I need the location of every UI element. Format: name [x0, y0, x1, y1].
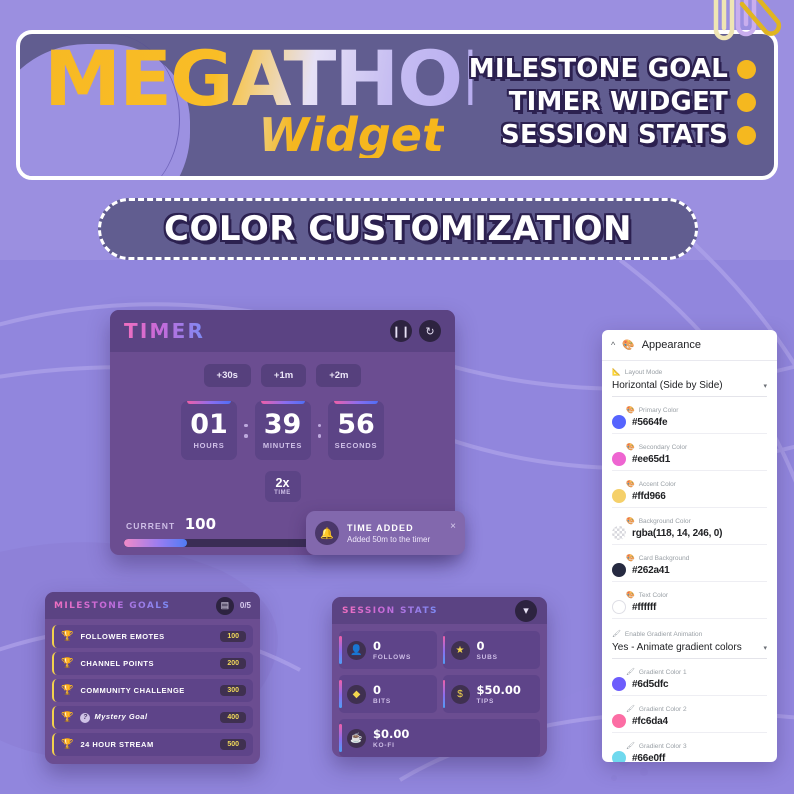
add-1m-button[interactable]: +1m: [261, 364, 306, 387]
stat-label: FOLLOWS: [373, 654, 411, 661]
chevron-up-icon[interactable]: ^: [611, 340, 615, 350]
palette-icon: 🎨: [626, 443, 635, 451]
secondary-color-row[interactable]: #ee65d1: [612, 452, 767, 471]
stat-value: 0: [373, 640, 411, 652]
milestone-name: FOLLOWER EMOTES: [80, 632, 213, 641]
gradient-color-1-row[interactable]: #6d5dfc: [612, 677, 767, 696]
timer-progress-fill: [124, 539, 187, 547]
brush-icon: 🖌: [626, 742, 635, 750]
color-swatch[interactable]: [612, 600, 626, 614]
milestone-name-text: Mystery Goal: [94, 712, 147, 721]
gradient-color-3-field: 🖌 Gradient Color 3 #66e0ff: [602, 737, 777, 762]
color-customization-label: COLOR CUSTOMIZATION: [164, 209, 632, 249]
milestone-item[interactable]: 🏆 FOLLOWER EMOTES 100: [52, 625, 253, 648]
secondary-color-field: 🎨 Secondary Color #ee65d1: [602, 438, 777, 475]
layout-mode-label-text: Layout Mode: [625, 369, 663, 376]
gem-icon: ◆: [347, 685, 366, 704]
primary-color-value: #5664fe: [632, 417, 667, 428]
bullet-dot-icon: [737, 60, 756, 79]
gradient-animation-field: 🖌 Enable Gradient Animation Yes - Animat…: [602, 623, 777, 663]
stats-grid: 👤 0 FOLLOWS ★ 0 SUBS ◆ 0 BITS: [332, 624, 547, 757]
stat-value: 0: [477, 640, 498, 652]
secondary-color-value: #ee65d1: [632, 454, 670, 465]
timer-quick-add-row: +30s +1m +2m: [124, 364, 441, 387]
brush-icon: 🖌: [612, 630, 621, 638]
timer-multiplier-value: 2x: [276, 477, 290, 490]
paperclip-icons: [694, 0, 784, 58]
stat-label: SUBS: [477, 654, 498, 661]
stat-card-follows: 👤 0 FOLLOWS: [339, 631, 437, 669]
milestone-count: 0/5: [240, 601, 251, 610]
timer-colon-separator: [244, 401, 248, 460]
timer-seconds-box: 56 SECONDS: [328, 401, 384, 460]
logo-main-text: MEGATHON: [44, 40, 472, 118]
milestone-item-mystery[interactable]: 🏆 ?Mystery Goal 400: [52, 706, 253, 729]
feature-label: TIMER WIDGET: [509, 87, 728, 117]
card-background-field: 🎨 Card Background #262a41: [602, 549, 777, 586]
toast-message: Added 50m to the timer: [347, 535, 430, 544]
color-swatch[interactable]: [612, 563, 626, 577]
feature-item: SESSION STATS: [426, 120, 756, 150]
milestone-name: ?Mystery Goal: [80, 712, 213, 722]
timer-colon-separator: [318, 401, 322, 460]
time-added-toast: 🔔 TIME ADDED Added 50m to the timer ×: [306, 511, 465, 555]
stat-value: $0.00: [373, 728, 409, 740]
gradient-color-2-row[interactable]: #fc6da4: [612, 714, 767, 733]
bullet-dot-icon: [737, 126, 756, 145]
layout-mode-select[interactable]: Horizontal (Side by Side) ▾: [612, 378, 767, 397]
follower-icon: 👤: [347, 641, 366, 660]
secondary-color-label: 🎨 Secondary Color: [612, 443, 767, 451]
stat-label: TIPS: [477, 698, 521, 705]
milestone-value: 400: [220, 712, 246, 723]
layout-mode-label: 📐 Layout Mode: [612, 368, 767, 376]
feature-item: MILESTONE GOAL: [426, 54, 756, 84]
current-label: CURRENT: [126, 521, 175, 531]
card-background-label: 🎨 Card Background: [612, 554, 767, 562]
current-value: 100: [185, 515, 216, 533]
stat-value: $50.00: [477, 684, 521, 696]
palette-icon: 🎨: [626, 517, 635, 525]
chevron-down-icon: ▾: [763, 382, 767, 390]
color-customization-banner: COLOR CUSTOMIZATION: [98, 198, 698, 260]
timer-hours-label: HOURS: [193, 441, 224, 450]
milestone-item[interactable]: 🏆 CHANNEL POINTS 200: [52, 652, 253, 675]
feature-list: MILESTONE GOAL TIMER WIDGET SESSION STAT…: [426, 54, 756, 153]
feature-item: TIMER WIDGET: [426, 87, 756, 117]
reset-icon[interactable]: ↻: [419, 320, 441, 342]
session-stats-widget: SESSION STATS ▾ 👤 0 FOLLOWS ★ 0 SUBS ◆: [332, 597, 547, 757]
timer-minutes-label: MINUTES: [263, 441, 302, 450]
milestone-list: 🏆 FOLLOWER EMOTES 100 🏆 CHANNEL POINTS 2…: [45, 619, 260, 762]
timer-multiplier-box[interactable]: 2x TIME: [265, 471, 301, 502]
feature-label: SESSION STATS: [501, 120, 728, 150]
bullet-dot-icon: [737, 93, 756, 112]
timer-widget-title: TIMER: [124, 319, 205, 343]
close-icon[interactable]: ×: [450, 521, 456, 532]
gradient-color-3-value: #66e0ff: [632, 753, 665, 763]
milestone-goals-widget: MILESTONE GOALS ▤ 0/5 🏆 FOLLOWER EMOTES …: [45, 592, 260, 764]
layout-mode-value: Horizontal (Side by Side): [612, 380, 723, 391]
add-30s-button[interactable]: +30s: [204, 364, 251, 387]
dollar-icon: $: [451, 685, 470, 704]
stat-label: KO-FI: [373, 742, 409, 749]
secondary-color-label-text: Secondary Color: [639, 444, 687, 451]
coffee-icon: ☕: [347, 729, 366, 748]
timer-hours-box: 01 HOURS: [181, 401, 237, 460]
timer-minutes-value: 39: [264, 411, 302, 439]
ruler-icon: 📐: [612, 368, 621, 376]
milestone-name: COMMUNITY CHALLENGE: [80, 686, 213, 695]
background-color-value: rgba(118, 14, 246, 0): [632, 528, 722, 539]
timer-seconds-label: SECONDS: [335, 441, 378, 450]
color-swatch[interactable]: [612, 452, 626, 466]
primary-color-label: 🎨 Primary Color: [612, 406, 767, 414]
header-banner: MEGATHON Widget MILESTONE GOAL TIMER WID…: [16, 30, 778, 180]
text-color-label-text: Text Color: [639, 592, 668, 599]
gradient-color-2-field: 🖌 Gradient Color 2 #fc6da4: [602, 700, 777, 737]
gradient-animation-select[interactable]: Yes - Animate gradient colors ▾: [612, 640, 767, 659]
color-swatch[interactable]: [612, 677, 626, 691]
toast-title: TIME ADDED: [347, 523, 430, 533]
timer-multiplier-label: TIME: [274, 490, 291, 496]
trophy-icon: 🏆: [61, 658, 73, 669]
timer-minutes-box: 39 MINUTES: [255, 401, 311, 460]
palette-icon: 🎨: [626, 406, 635, 414]
gradient-color-1-field: 🖌 Gradient Color 1 #6d5dfc: [602, 663, 777, 700]
milestone-item[interactable]: 🏆 COMMUNITY CHALLENGE 300: [52, 679, 253, 702]
gradient-color-1-value: #6d5dfc: [632, 679, 668, 690]
color-swatch[interactable]: [612, 415, 626, 429]
timer-multiplier-row: 2x TIME: [124, 471, 441, 502]
add-2m-button[interactable]: +2m: [316, 364, 361, 387]
accent-color-label-text: Accent Color: [639, 481, 676, 488]
timer-hours-value: 01: [190, 411, 228, 439]
star-icon: ★: [451, 641, 470, 660]
palette-icon: 🎨: [626, 480, 635, 488]
stat-card-kofi: ☕ $0.00 KO-FI: [339, 719, 540, 757]
trophy-icon: 🏆: [61, 685, 73, 696]
gradient-animation-value: Yes - Animate gradient colors: [612, 642, 742, 653]
timer-widget-header: TIMER ❙❙ ↻: [110, 310, 455, 352]
trophy-icon: 🏆: [61, 712, 73, 723]
background-color-row[interactable]: rgba(118, 14, 246, 0): [612, 526, 767, 545]
page-root: MEGATHON Widget MILESTONE GOAL TIMER WID…: [0, 0, 794, 794]
brush-icon: 🖌: [626, 668, 635, 676]
palette-icon: 🎨: [622, 340, 634, 351]
milestone-widget-header: MILESTONE GOALS ▤ 0/5: [45, 592, 260, 619]
appearance-settings-panel: ^ 🎨 Appearance 📐 Layout Mode Horizontal …: [602, 330, 777, 762]
appearance-panel-title: Appearance: [642, 339, 701, 351]
milestone-value: 200: [220, 658, 246, 669]
appearance-panel-header[interactable]: ^ 🎨 Appearance: [602, 330, 777, 361]
bell-icon: 🔔: [315, 521, 339, 545]
color-swatch[interactable]: [612, 714, 626, 728]
text-color-row[interactable]: #ffffff: [612, 600, 767, 619]
background-color-field: 🎨 Background Color rgba(118, 14, 246, 0): [602, 512, 777, 549]
pause-icon[interactable]: ❙❙: [390, 320, 412, 342]
accent-color-label: 🎨 Accent Color: [612, 480, 767, 488]
chevron-down-icon: ▾: [763, 644, 767, 652]
accent-color-field: 🎨 Accent Color #ffd966: [602, 475, 777, 512]
stats-widget-title: SESSION STATS: [342, 606, 438, 616]
background-color-label-text: Background Color: [639, 518, 691, 525]
primary-color-label-text: Primary Color: [639, 407, 679, 414]
primary-color-field: 🎨 Primary Color #5664fe: [602, 401, 777, 438]
text-color-label: 🎨 Text Color: [612, 591, 767, 599]
feature-label: MILESTONE GOAL: [469, 54, 728, 84]
question-mark-icon: ?: [80, 713, 90, 723]
brand-logo: MEGATHON Widget: [44, 40, 464, 180]
gradient-animation-label-text: Enable Gradient Animation: [625, 631, 702, 638]
color-swatch-transparent[interactable]: [612, 526, 626, 540]
milestone-name: CHANNEL POINTS: [80, 659, 213, 668]
text-color-field: 🎨 Text Color #ffffff: [602, 586, 777, 623]
gradient-color-3-label: 🖌 Gradient Color 3: [612, 742, 767, 750]
stat-label: BITS: [373, 698, 391, 705]
milestone-value: 300: [220, 685, 246, 696]
palette-icon: 🎨: [626, 591, 635, 599]
layout-mode-field: 📐 Layout Mode Horizontal (Side by Side) …: [602, 361, 777, 401]
gradient-color-3-label-text: Gradient Color 3: [639, 743, 687, 750]
trophy-icon: 🏆: [61, 631, 73, 642]
gradient-color-1-label-text: Gradient Color 1: [639, 669, 687, 676]
milestone-name: 24 HOUR STREAM: [80, 740, 213, 749]
card-background-row[interactable]: #262a41: [612, 563, 767, 582]
stat-card-subs: ★ 0 SUBS: [443, 631, 541, 669]
color-swatch[interactable]: [612, 489, 626, 503]
primary-color-row[interactable]: #5664fe: [612, 415, 767, 434]
gradient-animation-label: 🖌 Enable Gradient Animation: [612, 630, 767, 638]
chevron-down-icon[interactable]: ▾: [515, 600, 537, 622]
brush-icon: 🖌: [626, 705, 635, 713]
stat-card-bits: ◆ 0 BITS: [339, 675, 437, 713]
trophy-icon: 🏆: [61, 739, 73, 750]
text-color-value: #ffffff: [632, 602, 656, 613]
milestone-value: 500: [220, 739, 246, 750]
gradient-color-1-label: 🖌 Gradient Color 1: [612, 668, 767, 676]
accent-color-value: #ffd966: [632, 491, 666, 502]
timer-seconds-value: 56: [337, 411, 375, 439]
milestone-widget-title: MILESTONE GOALS: [54, 601, 170, 611]
timer-digits-row: 01 HOURS 39 MINUTES 56 SECONDS: [124, 401, 441, 460]
color-swatch[interactable]: [612, 751, 626, 762]
stat-card-tips: $ $50.00 TIPS: [443, 675, 541, 713]
stat-value: 0: [373, 684, 391, 696]
palette-icon: 🎨: [626, 554, 635, 562]
gradient-color-2-label: 🖌 Gradient Color 2: [612, 705, 767, 713]
card-background-value: #262a41: [632, 565, 670, 576]
background-color-label: 🎨 Background Color: [612, 517, 767, 525]
list-icon[interactable]: ▤: [216, 597, 234, 615]
milestone-item[interactable]: 🏆 24 HOUR STREAM 500: [52, 733, 253, 756]
accent-color-row[interactable]: #ffd966: [612, 489, 767, 508]
gradient-color-2-label-text: Gradient Color 2: [639, 706, 687, 713]
stats-widget-header: SESSION STATS ▾: [332, 597, 547, 624]
gradient-color-3-row[interactable]: #66e0ff: [612, 751, 767, 762]
card-background-label-text: Card Background: [639, 555, 690, 562]
milestone-value: 100: [220, 631, 246, 642]
gradient-color-2-value: #fc6da4: [632, 716, 668, 727]
